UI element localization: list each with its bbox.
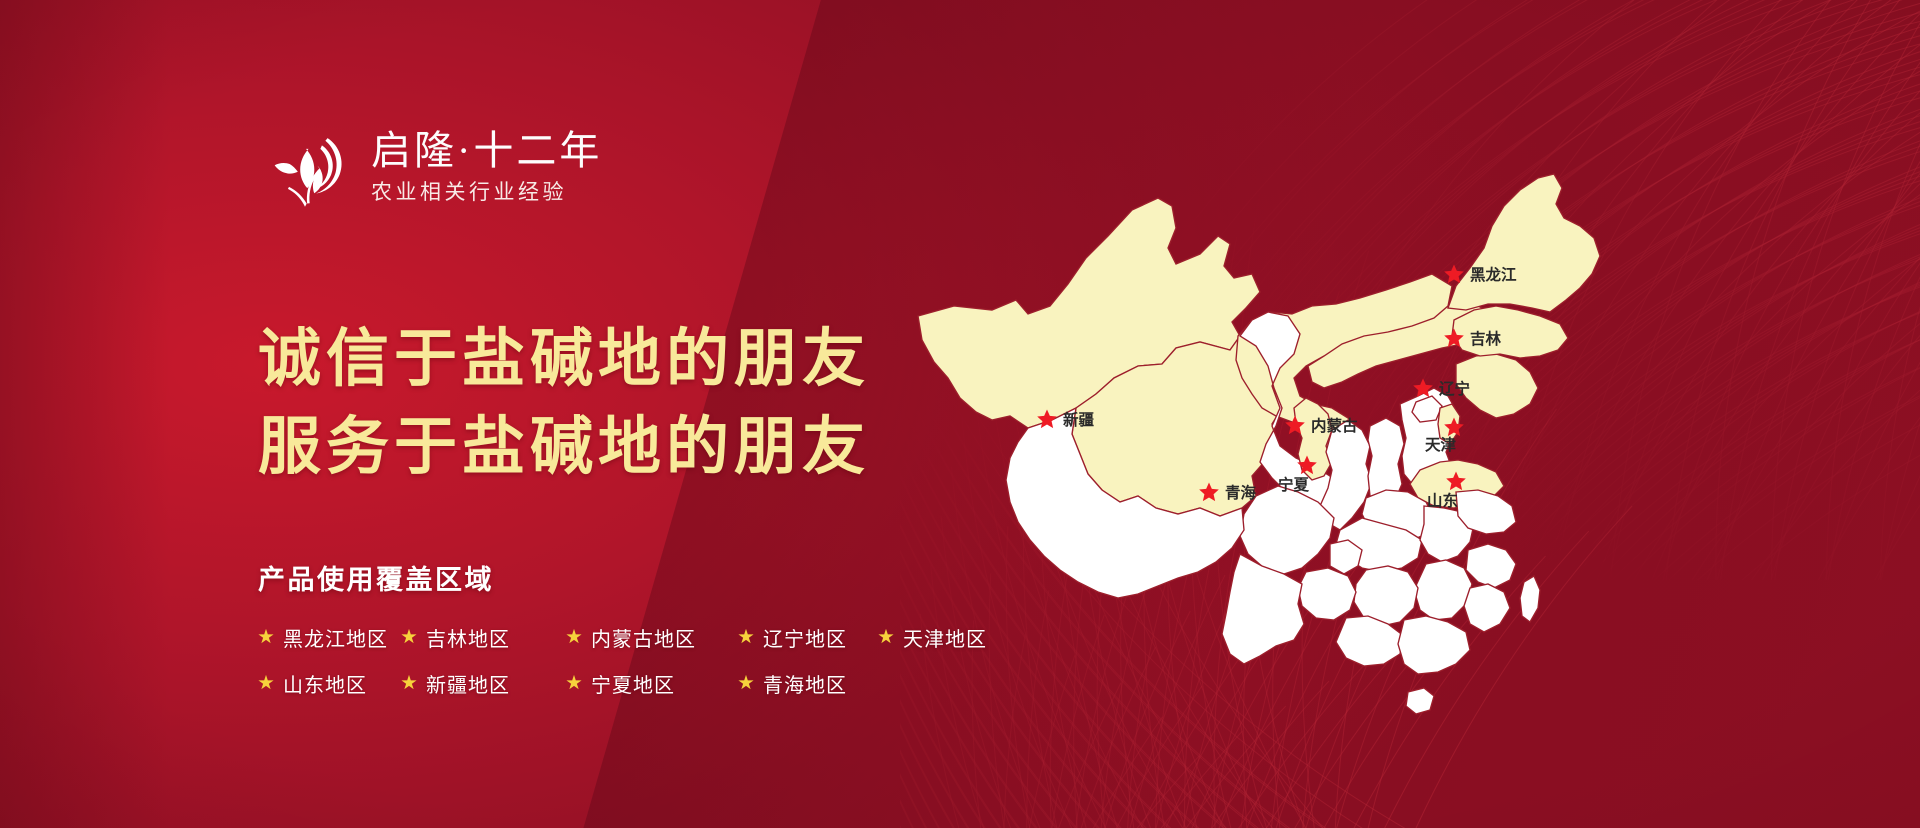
list-item: ★黑龙江地区 [258, 623, 401, 652]
province-guizhou [1298, 568, 1356, 620]
region-label: 山东地区 [283, 669, 367, 698]
map-label-tianjin: 天津 [1425, 436, 1457, 454]
map-label-qinghai: 青海 [1225, 483, 1257, 502]
star-icon: ★ [566, 630, 582, 646]
star-icon: ★ [258, 676, 274, 692]
province-heilongjiang [1448, 174, 1600, 312]
province-fujian [1464, 584, 1510, 632]
star-icon: ★ [738, 630, 754, 646]
brand-subtitle: 农业相关行业经验 [371, 176, 602, 206]
map-label-jilin: 吉林 [1470, 329, 1502, 348]
province-hainan [1406, 688, 1434, 714]
region-label: 黑龙江地区 [283, 623, 388, 652]
list-item: ★辽宁地区 [738, 623, 878, 652]
china-map-svg: 黑龙江 吉林 辽宁 内蒙古 天津 山东 宁夏 新疆 青海 [900, 78, 1630, 728]
brand-logo: 启隆·十二年 农业相关行业经验 [265, 126, 602, 210]
star-icon: ★ [566, 676, 582, 692]
region-label: 青海地区 [763, 669, 847, 698]
star-icon: ★ [258, 630, 274, 646]
province-guangdong [1398, 616, 1470, 674]
region-label: 新疆地区 [426, 669, 510, 698]
region-label: 内蒙古地区 [591, 623, 696, 652]
map-label-ningxia: 宁夏 [1278, 475, 1310, 494]
list-item: ★青海地区 [738, 669, 878, 698]
headline-line-2: 服务于盐碱地的朋友 [258, 403, 870, 491]
china-coverage-map: 黑龙江 吉林 辽宁 内蒙古 天津 山东 宁夏 新疆 青海 [900, 78, 1630, 728]
map-label-inner-mongolia: 内蒙古 [1311, 416, 1358, 435]
province-taiwan [1520, 576, 1540, 622]
region-label: 宁夏地区 [591, 669, 675, 698]
province-jiangxi [1414, 560, 1472, 620]
list-item: ★山东地区 [258, 669, 401, 698]
star-icon: ★ [738, 676, 754, 692]
map-label-liaoning: 辽宁 [1439, 379, 1470, 398]
map-label-xinjiang: 新疆 [1063, 410, 1095, 429]
star-icon: ★ [878, 630, 894, 646]
lotus-leaf-circle-icon [265, 126, 349, 210]
star-icon: ★ [401, 676, 417, 692]
list-item: ★新疆地区 [401, 669, 566, 698]
list-item: ★吉林地区 [401, 623, 566, 652]
region-label: 吉林地区 [426, 623, 510, 652]
star-icon: ★ [401, 630, 417, 646]
province-zhejiang [1466, 544, 1516, 588]
headline-line-1: 诚信于盐碱地的朋友 [258, 315, 870, 403]
list-item: ★宁夏地区 [566, 669, 738, 698]
banner-canvas: 启隆·十二年 农业相关行业经验 诚信于盐碱地的朋友 服务于盐碱地的朋友 产品使用… [0, 0, 1920, 828]
headline: 诚信于盐碱地的朋友 服务于盐碱地的朋友 [258, 315, 870, 491]
map-label-heilongjiang: 黑龙江 [1470, 265, 1517, 284]
list-item: ★内蒙古地区 [566, 623, 738, 652]
map-label-shandong: 山东 [1427, 491, 1458, 510]
region-label: 辽宁地区 [763, 623, 847, 652]
brand-title: 启隆·十二年 [371, 130, 602, 172]
